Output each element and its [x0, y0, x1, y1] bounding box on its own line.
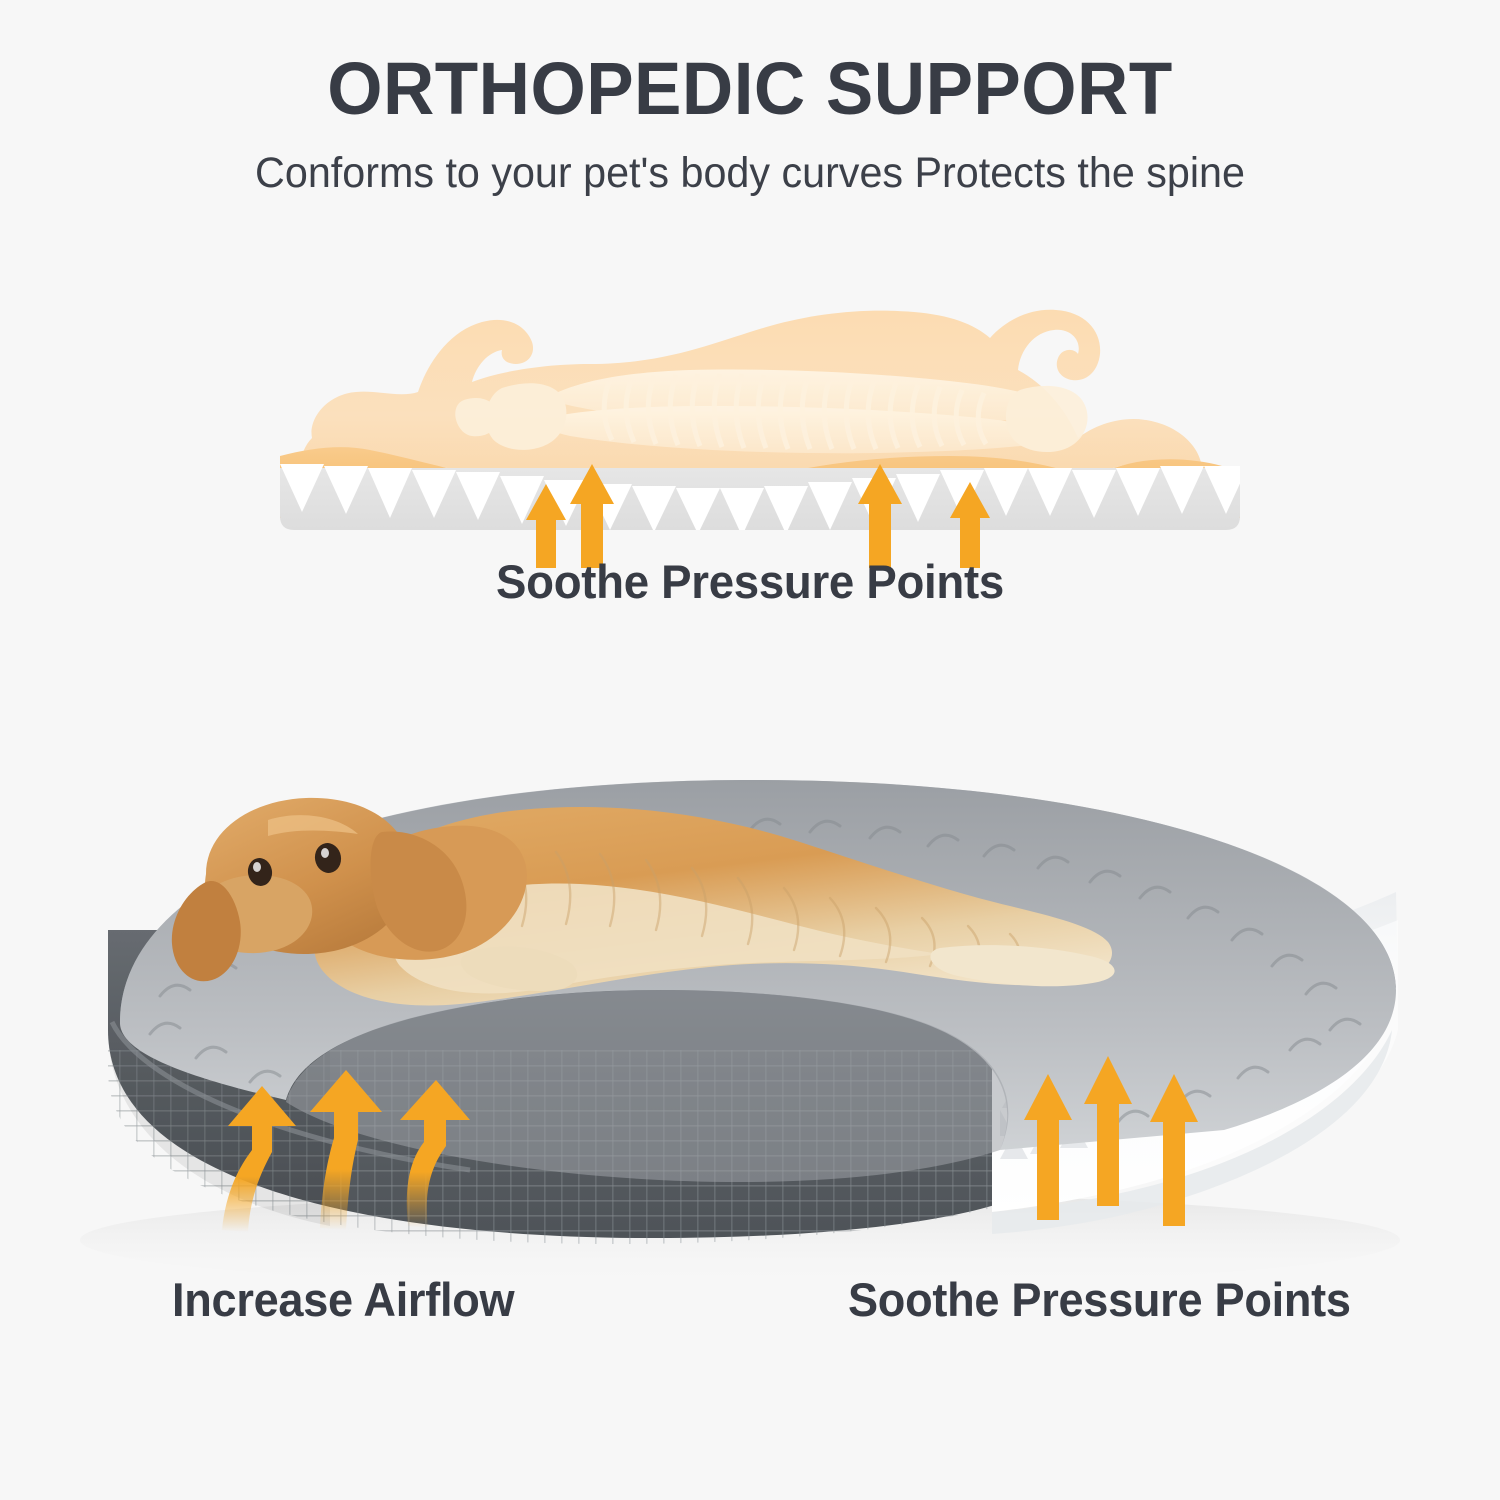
bottom-label-row: Increase Airflow Soothe Pressure Points: [0, 1272, 1500, 1342]
page-subtitle: Conforms to your pet's body curves Prote…: [30, 152, 1470, 195]
foam-diagram-caption: Soothe Pressure Points: [23, 554, 1478, 609]
label-soothe-pressure-points: Soothe Pressure Points: [848, 1272, 1351, 1327]
dog-bed-photo: [0, 630, 1500, 1290]
page-title: ORTHOPEDIC SUPPORT: [30, 52, 1470, 126]
foam-diagram-section: Soothe Pressure Points: [0, 268, 1500, 618]
header-block: ORTHOPEDIC SUPPORT Conforms to your pet'…: [0, 52, 1500, 195]
foam-base: [280, 464, 1248, 536]
pressure-arrows-bottom: [1024, 1056, 1198, 1226]
foam-cutaway-illustration: [250, 268, 1270, 568]
product-photo-section: [0, 630, 1500, 1290]
infographic-page: ORTHOPEDIC SUPPORT Conforms to your pet'…: [0, 0, 1500, 1500]
label-increase-airflow: Increase Airflow: [172, 1272, 514, 1327]
dog-ear-left: [172, 881, 241, 981]
